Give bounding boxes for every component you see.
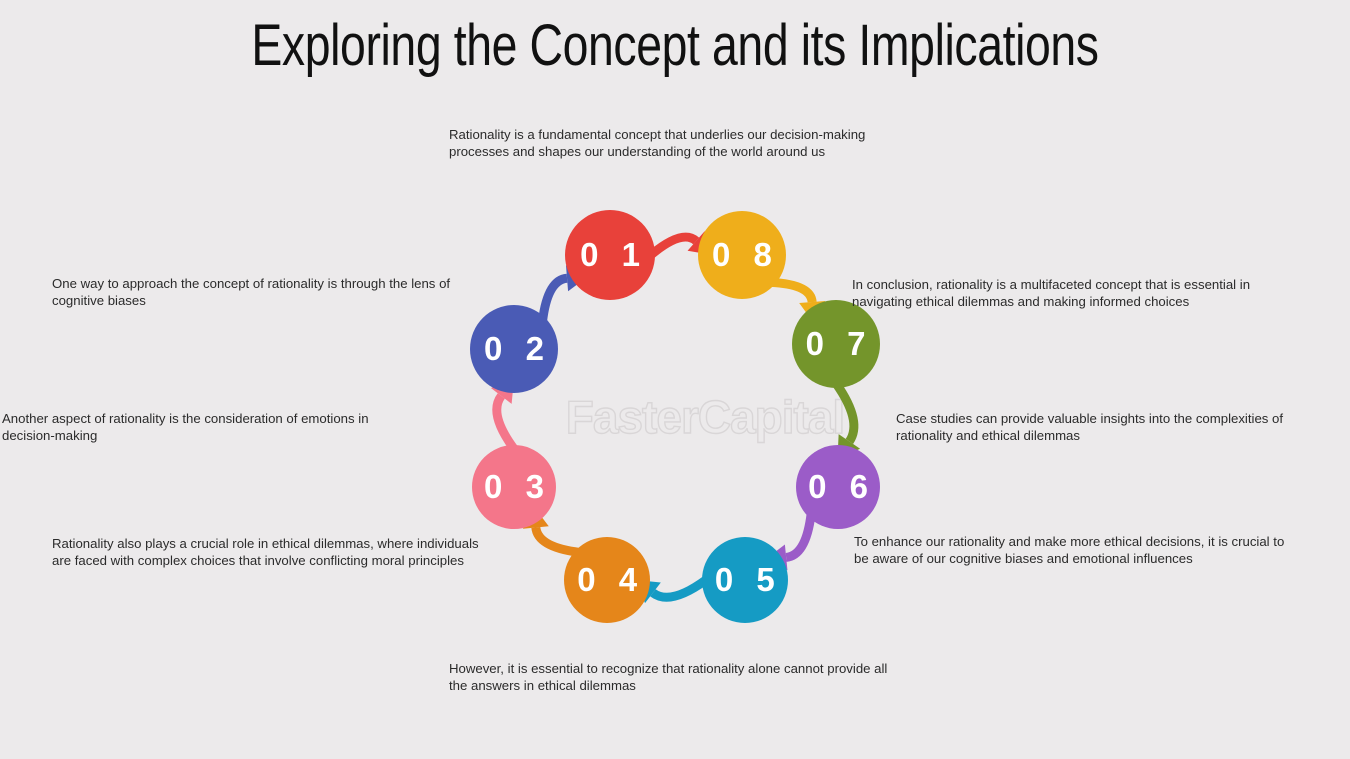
- node-07-caption: Case studies can provide valuable insigh…: [896, 410, 1306, 444]
- node-01-caption: Rationality is a fundamental concept tha…: [449, 126, 909, 160]
- node-06-number: 0 6: [801, 468, 875, 506]
- arrow-01-to-08-shaft: [651, 237, 696, 255]
- arrow-02-to-01-shaft: [543, 278, 568, 321]
- node-02-caption: One way to approach the concept of ratio…: [52, 275, 476, 309]
- node-06[interactable]: 0 6: [796, 445, 880, 529]
- arrow-04-to-03-shaft: [536, 527, 580, 552]
- arrow-05-to-04-shaft: [653, 580, 706, 597]
- node-01[interactable]: 0 1: [565, 210, 655, 300]
- arrow-03-to-02-shaft: [497, 396, 514, 449]
- node-05-caption: However, it is essential to recognize th…: [449, 660, 909, 694]
- node-08[interactable]: 0 8: [698, 211, 786, 299]
- node-02-number: 0 2: [477, 330, 551, 368]
- arrow-06-to-05-shaft: [786, 514, 811, 558]
- node-07[interactable]: 0 7: [792, 300, 880, 388]
- arrow-07-to-06-shaft: [836, 384, 854, 442]
- node-08-number: 0 8: [705, 236, 779, 274]
- node-01-number: 0 1: [573, 236, 647, 274]
- node-07-number: 0 7: [799, 325, 873, 363]
- node-03-number: 0 3: [477, 468, 551, 506]
- node-03[interactable]: 0 3: [472, 445, 556, 529]
- node-06-caption: To enhance our rationality and make more…: [854, 533, 1294, 567]
- node-04-number: 0 4: [570, 561, 644, 599]
- node-03-caption: Another aspect of rationality is the con…: [2, 410, 402, 444]
- node-08-caption: In conclusion, rationality is a multifac…: [852, 276, 1284, 310]
- node-05[interactable]: 0 5: [702, 537, 788, 623]
- infographic-canvas: Exploring the Concept and its Implicatio…: [0, 0, 1350, 759]
- arrow-08-to-07-shaft: [771, 282, 812, 302]
- node-02[interactable]: 0 2: [470, 305, 558, 393]
- node-05-number: 0 5: [708, 561, 782, 599]
- node-04[interactable]: 0 4: [564, 537, 650, 623]
- node-04-caption: Rationality also plays a crucial role in…: [52, 535, 497, 569]
- cycle-arrow-layer: [0, 0, 1350, 759]
